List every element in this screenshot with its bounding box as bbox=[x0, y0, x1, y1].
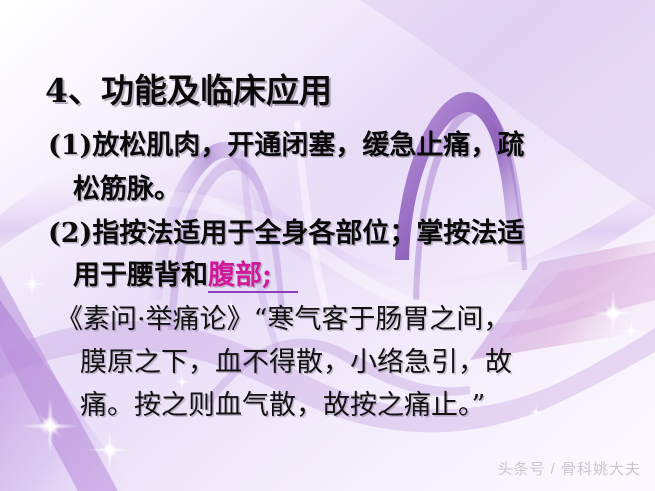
quotation-line-3: 痛。按之则血气散，故按之痛止。” bbox=[80, 392, 485, 419]
highlighted-term: 腹部; bbox=[208, 260, 298, 293]
bullet-1-line-2: 松筋脉。 bbox=[73, 176, 181, 203]
bullet-2-line-2-text: 用于腰背和 bbox=[73, 260, 208, 291]
page-title: 4、功能及临床应用 bbox=[45, 74, 332, 107]
bullet-1-line-1: (1)放松肌肉，开通闭塞，缓急止痛，疏 bbox=[48, 132, 524, 159]
presentation-slide: 4、功能及临床应用 (1)放松肌肉，开通闭塞，缓急止痛，疏 松筋脉。 (2)指按… bbox=[0, 0, 655, 491]
bullet-2-line-1: (2)指按法适用于全身各部位；掌按法适 bbox=[48, 220, 524, 247]
quotation-line-1: 《素问·举痛论》“寒气客于肠胃之间， bbox=[56, 306, 510, 333]
quotation-line-2: 膜原之下，血不得散，小络急引，故 bbox=[80, 349, 512, 376]
bullet-2-line-2: 用于腰背和腹部; bbox=[73, 262, 298, 289]
watermark: 头条号 / 骨科姚大夫 bbox=[497, 458, 641, 479]
slide-content: 4、功能及临床应用 (1)放松肌肉，开通闭塞，缓急止痛，疏 松筋脉。 (2)指按… bbox=[0, 0, 655, 491]
